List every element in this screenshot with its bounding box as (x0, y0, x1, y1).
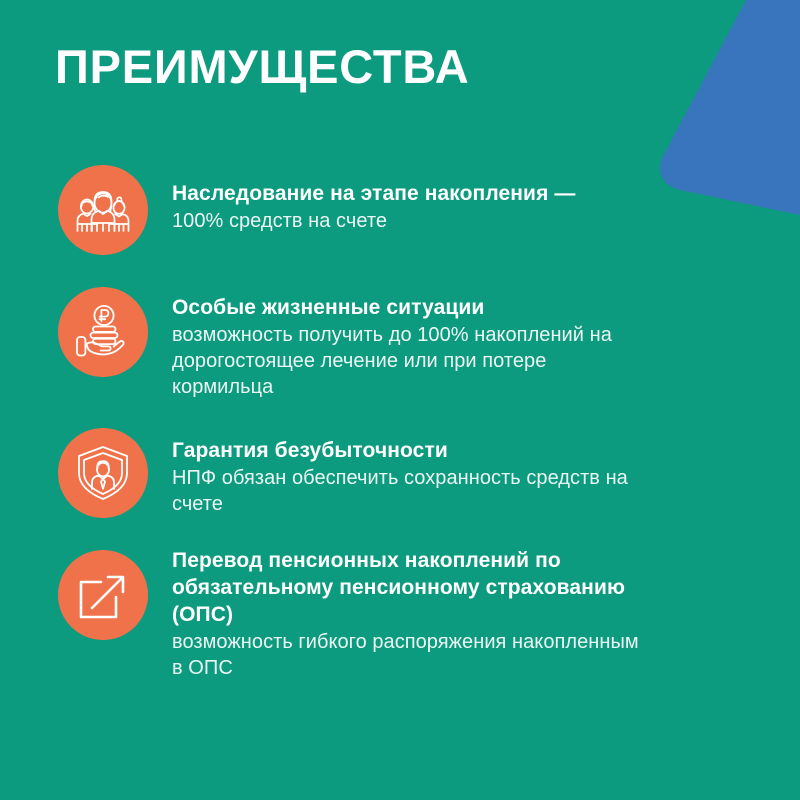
family-icon (74, 184, 132, 236)
benefit-text-block: Наследование на этапе накопления — 100% … (148, 155, 652, 234)
benefit-icon-badge (58, 287, 148, 377)
benefit-description: НПФ обязан обеспечить сохранность средст… (172, 465, 652, 517)
benefit-item: Особые жизненные ситуации возможность по… (0, 277, 800, 400)
benefit-item: Гарантия безубыточности НПФ обязан обесп… (0, 418, 800, 518)
export-arrow-icon (77, 569, 129, 621)
page-title: ПРЕИМУЩЕСТВА (55, 42, 470, 91)
shield-person-icon (77, 445, 129, 501)
benefit-text-block: Перевод пенсионных накоплений по обязате… (148, 540, 652, 681)
benefit-description: возможность получить до 100% накоплений … (172, 322, 652, 400)
benefit-title: Гарантия безубыточности (172, 438, 652, 465)
benefit-icon-badge (58, 428, 148, 518)
benefits-list: Наследование на этапе накопления — 100% … (0, 155, 800, 681)
slide-root: ПРЕИМУЩЕСТВА (0, 0, 800, 800)
benefit-description: возможность гибкого распоряжения накопле… (172, 629, 652, 681)
benefit-item: Перевод пенсионных накоплений по обязате… (0, 540, 800, 681)
benefit-text-block: Особые жизненные ситуации возможность по… (148, 277, 652, 400)
benefit-item: Наследование на этапе накопления — 100% … (0, 155, 800, 255)
benefit-text-block: Гарантия безубыточности НПФ обязан обесп… (148, 418, 652, 517)
benefit-title: Перевод пенсионных накоплений по обязате… (172, 548, 652, 629)
benefit-title: Особые жизненные ситуации (172, 295, 652, 322)
hand-with-coins-icon (74, 304, 132, 360)
benefit-icon-badge (58, 165, 148, 255)
benefit-title: Наследование на этапе накопления — (172, 181, 652, 208)
benefit-icon-badge (58, 550, 148, 640)
benefit-description: 100% средств на счете (172, 208, 652, 234)
